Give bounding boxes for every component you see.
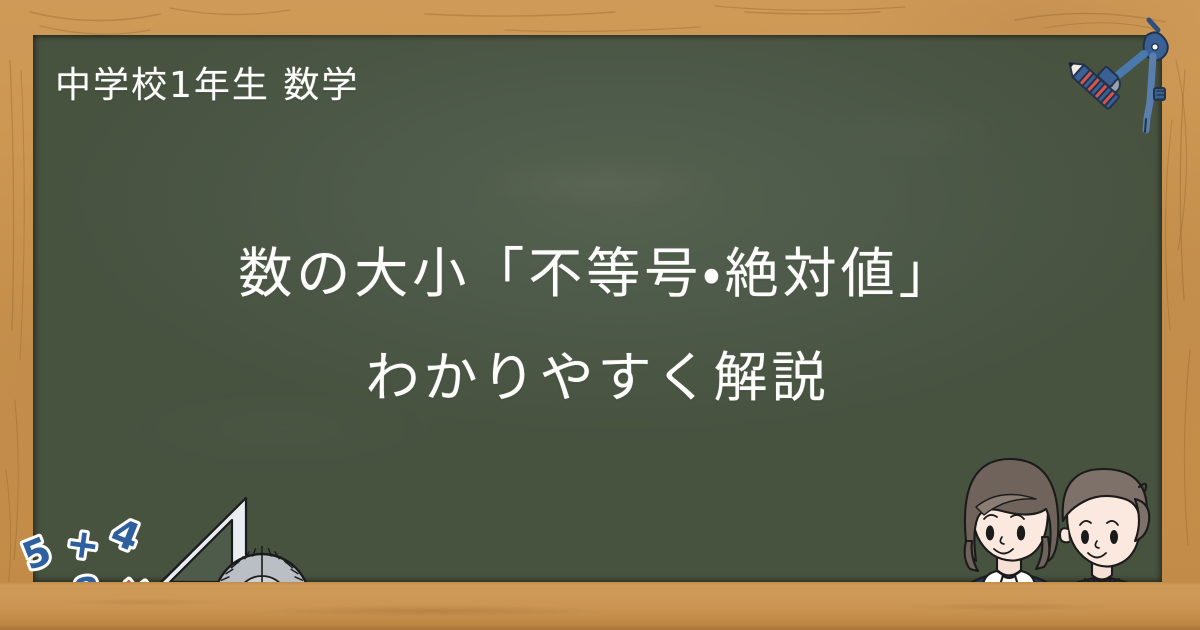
- grade-subject-label: 中学校1年生 数学: [55, 56, 359, 108]
- chalk-ledge: [0, 582, 1200, 630]
- page-title: 数の大小「不等号・絶対値」 わかりやすく解説: [33, 222, 1162, 430]
- title-line-primary: 数の大小「不等号・絶対値」: [33, 222, 1162, 326]
- thumbnail-canvas: 中学校1年生 数学 数の大小「不等号・絶対値」 わかりやすく解説: [0, 0, 1200, 630]
- title-line-secondary: わかりやすく解説: [33, 326, 1162, 430]
